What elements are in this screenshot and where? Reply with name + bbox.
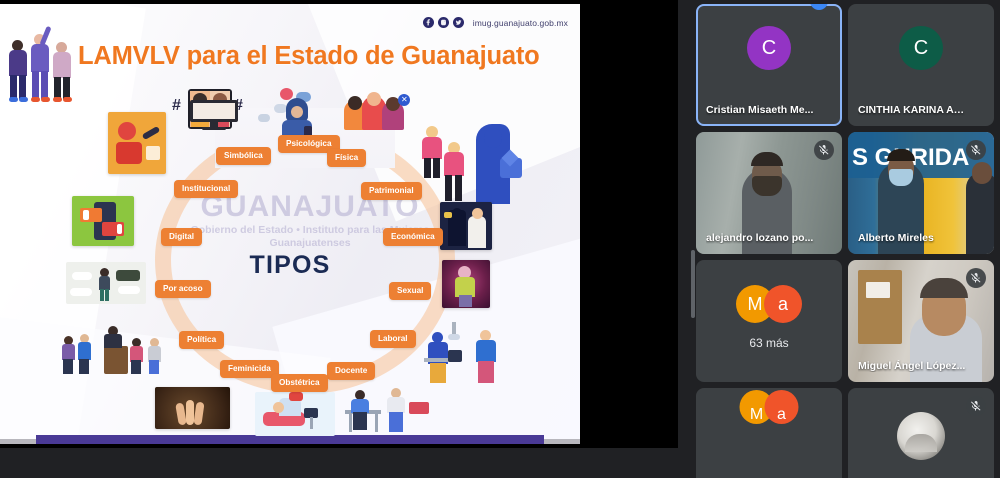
twitter-icon bbox=[453, 17, 464, 28]
violence-type-label: Docente bbox=[327, 362, 375, 380]
participant-tile-grid: CCristian Misaeth Me...CCINTHIA KARINA A… bbox=[696, 4, 994, 478]
illustration-frame-orange bbox=[108, 112, 166, 174]
illustration-laboral-office bbox=[345, 384, 431, 434]
violence-type-label: Patrimonial bbox=[361, 182, 422, 200]
illustration-group-bullying: ✕ bbox=[344, 92, 410, 132]
violence-type-label: Laboral bbox=[370, 330, 416, 348]
participant-name: CINTHIA KARINA AL... bbox=[858, 104, 968, 116]
participant-tile[interactable]: S GURIDAAlberto Mireles bbox=[848, 132, 994, 254]
illustration-hands-photo bbox=[155, 387, 230, 429]
microphone-muted-icon bbox=[966, 140, 986, 160]
microphone-muted-icon bbox=[814, 140, 834, 160]
violence-type-label: Por acoso bbox=[155, 280, 211, 298]
speaking-indicator bbox=[810, 4, 828, 10]
participant-tile[interactable]: CCINTHIA KARINA AL... bbox=[848, 4, 994, 126]
shared-screen-stage[interactable]: imug.guanajuato.gob.mx LAMVLV para el Es… bbox=[0, 0, 678, 448]
instagram-icon bbox=[438, 17, 449, 28]
avatar-stack: Ma bbox=[736, 285, 802, 323]
illustration-frame-purple bbox=[442, 260, 490, 308]
slide-bottom-bar bbox=[36, 435, 544, 444]
avatar: a bbox=[764, 285, 802, 323]
participant-tile[interactable]: Miguel Ángel López... bbox=[848, 260, 994, 382]
participant-name: Miguel Ángel López... bbox=[858, 360, 968, 372]
social-links-row: imug.guanajuato.gob.mx bbox=[423, 17, 568, 28]
meeting-window: imug.guanajuato.gob.mx LAMVLV para el Es… bbox=[0, 0, 1000, 478]
avatar bbox=[897, 412, 945, 460]
illustration-politics-crowd bbox=[62, 322, 172, 376]
center-word: TIPOS bbox=[249, 251, 330, 280]
violence-type-label: Política bbox=[179, 331, 224, 349]
violence-type-label: Institucional bbox=[174, 180, 238, 198]
participant-tile[interactable]: Tú bbox=[848, 388, 994, 478]
participant-name: Cristian Misaeth Me... bbox=[706, 104, 816, 116]
sidebar-scrollbar[interactable] bbox=[691, 250, 695, 318]
violence-type-label: Obstétrica bbox=[271, 374, 328, 392]
participant-name: alejandro lozano po... bbox=[706, 232, 816, 244]
microphone-muted-icon bbox=[966, 396, 986, 416]
participants-sidebar[interactable]: CCristian Misaeth Me...CCINTHIA KARINA A… bbox=[690, 0, 1000, 478]
illustration-laboral-right bbox=[424, 322, 510, 384]
facebook-icon bbox=[423, 17, 434, 28]
illustration-patrimonial bbox=[418, 124, 448, 178]
violence-type-label: Simbólica bbox=[216, 147, 271, 165]
participant-name: Alberto Mireles bbox=[858, 232, 968, 244]
illustration-three-women bbox=[6, 26, 80, 104]
illustration-monitor bbox=[190, 100, 238, 130]
illustration-harassment bbox=[66, 262, 146, 304]
slide-title: LAMVLV para el Estado de Guanajuato bbox=[78, 42, 540, 71]
avatar: C bbox=[899, 26, 943, 70]
violence-type-label: Sexual bbox=[389, 282, 431, 300]
illustration-digital-green bbox=[72, 196, 134, 246]
participant-tile[interactable]: Ma63 más bbox=[696, 260, 842, 382]
avatar: C bbox=[747, 26, 791, 70]
microphone-muted-icon bbox=[966, 268, 986, 288]
presentation-slide[interactable]: imug.guanajuato.gob.mx LAMVLV para el Es… bbox=[0, 4, 580, 444]
illustration-obstetric bbox=[255, 392, 335, 436]
avatar-stack: Ma bbox=[740, 390, 799, 424]
violence-type-label: Física bbox=[327, 149, 366, 167]
more-participants-count: 63 más bbox=[696, 336, 842, 350]
participant-tile[interactable]: CCristian Misaeth Me... bbox=[696, 4, 842, 126]
avatar: a bbox=[765, 390, 799, 424]
violence-type-label: Digital bbox=[161, 228, 202, 246]
violence-type-label: Económica bbox=[383, 228, 443, 246]
violence-type-label: Feminicida bbox=[220, 360, 279, 378]
participant-tile[interactable]: alejandro lozano po... bbox=[696, 132, 842, 254]
illustration-frame-dark bbox=[440, 202, 492, 250]
website-url: imug.guanajuato.gob.mx bbox=[473, 18, 568, 28]
participant-tile[interactable]: Ma bbox=[696, 388, 842, 478]
